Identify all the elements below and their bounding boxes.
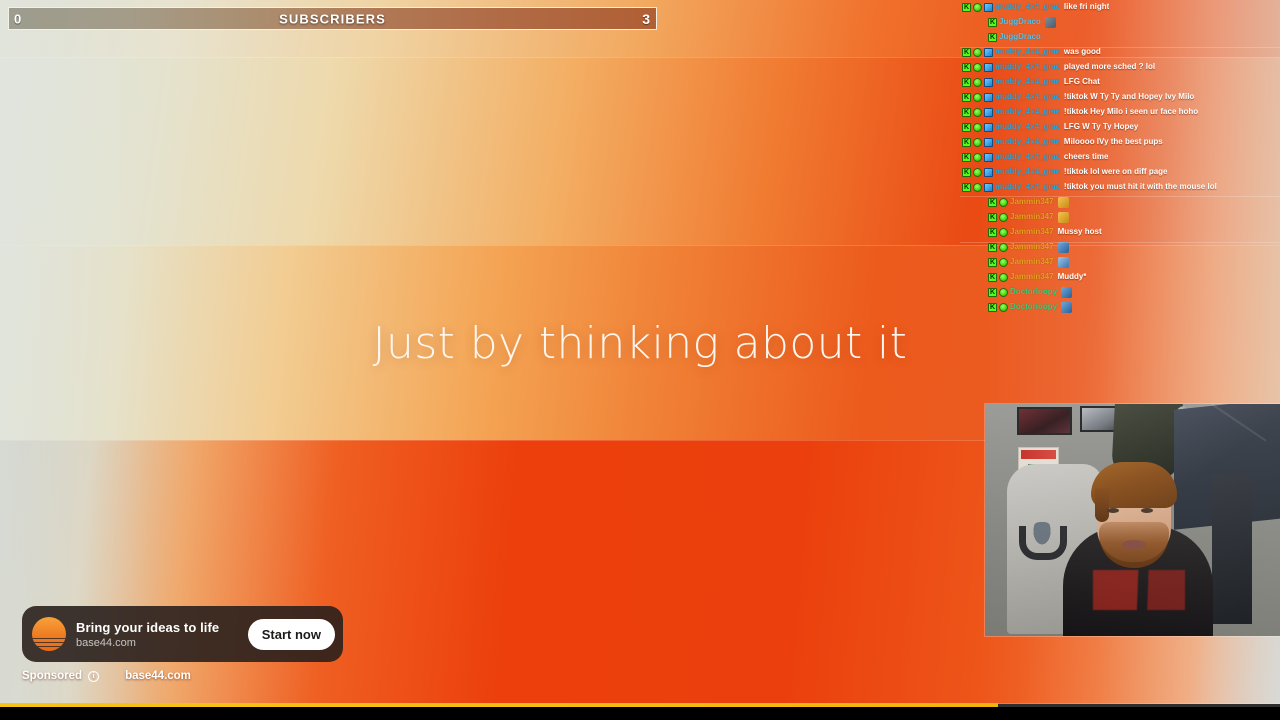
kick-badge-icon bbox=[988, 303, 997, 312]
chat-message-text: Muddy* bbox=[1058, 273, 1087, 281]
info-icon[interactable]: i bbox=[88, 671, 99, 682]
video-caption: Just by thinking about it bbox=[0, 318, 1280, 369]
chat-username[interactable]: Doctorloopy bbox=[1010, 303, 1057, 311]
chat-divider bbox=[960, 196, 1280, 197]
verified-badge-icon bbox=[973, 3, 982, 12]
kick-badge-icon bbox=[988, 18, 997, 27]
chat-message-text: like fri night bbox=[1064, 3, 1109, 11]
kick-badge-icon bbox=[962, 138, 971, 147]
chat-message[interactable]: muddy_4x4_gmcLFG Chat bbox=[960, 75, 1280, 90]
kick-badge-icon bbox=[962, 78, 971, 87]
chat-username[interactable]: muddy_4x4_gmc bbox=[995, 93, 1060, 101]
streamer-eye-right bbox=[1141, 508, 1153, 513]
kick-badge-icon bbox=[962, 168, 971, 177]
chat-message-text: LFG W Ty Ty Hopey bbox=[1064, 123, 1138, 131]
kick-badge-icon bbox=[962, 153, 971, 162]
chat-message-text: played more sched ? lol bbox=[1064, 63, 1155, 71]
subscriber-badge-icon bbox=[984, 138, 993, 147]
chat-username[interactable]: muddy_4x4_gmc bbox=[995, 138, 1060, 146]
streamer-hair bbox=[1091, 462, 1177, 508]
chat-message-text: !tiktok W Ty Ty and Hopey Ivy Milo bbox=[1064, 93, 1194, 101]
streamer-mouth bbox=[1122, 540, 1146, 549]
subscriber-goal-bar: 0 SUBSCRIBERS 3 bbox=[8, 7, 657, 30]
verified-badge-icon bbox=[973, 78, 982, 87]
subscriber-badge-icon bbox=[984, 168, 993, 177]
subscriber-badge-icon bbox=[984, 78, 993, 87]
subscriber-badge-icon bbox=[984, 123, 993, 132]
subscriber-badge-icon bbox=[984, 48, 993, 57]
chat-message-text: !tiktok lol were on diff page bbox=[1064, 168, 1168, 176]
chat-message[interactable]: JuggDraco bbox=[960, 15, 1280, 30]
subscriber-goal-target: 3 bbox=[642, 11, 650, 27]
verified-badge-icon bbox=[973, 123, 982, 132]
chat-message[interactable]: Jammin347 bbox=[960, 195, 1280, 210]
chat-message[interactable]: muddy_4x4_gmclike fri night bbox=[960, 0, 1280, 15]
chat-message[interactable]: JuggDraco bbox=[960, 30, 1280, 45]
chat-username[interactable]: muddy_4x4_gmc bbox=[995, 78, 1060, 86]
sponsored-label: Sponsored bbox=[22, 670, 82, 682]
chat-message-text: Mussy host bbox=[1058, 228, 1102, 236]
verified-badge-icon bbox=[973, 168, 982, 177]
chat-divider bbox=[960, 47, 1280, 48]
chat-username[interactable]: Jammin347 bbox=[1010, 243, 1054, 251]
chat-emote-icon bbox=[1058, 197, 1069, 208]
chat-message[interactable]: muddy_4x4_gmc!tiktok you must hit it wit… bbox=[960, 180, 1280, 195]
kick-badge-icon bbox=[962, 123, 971, 132]
player-letterbox bbox=[0, 707, 1280, 720]
chat-message[interactable]: Jammin347 bbox=[960, 210, 1280, 225]
subscriber-badge-icon bbox=[984, 3, 993, 12]
sponsored-ad-card[interactable]: Bring your ideas to life base44.com Star… bbox=[22, 606, 343, 662]
verified-badge-icon bbox=[999, 228, 1008, 237]
chat-username[interactable]: Doctorloopy bbox=[1010, 288, 1057, 296]
chat-username[interactable]: JuggDraco bbox=[999, 18, 1041, 26]
kick-badge-icon bbox=[988, 213, 997, 222]
chat-divider bbox=[960, 242, 1280, 243]
kick-badge-icon bbox=[962, 48, 971, 57]
ad-domain-sub: base44.com bbox=[76, 637, 238, 649]
chat-message[interactable]: Jammin347Mussy host bbox=[960, 225, 1280, 240]
chat-message-text: !tiktok Hey Milo i seen ur face hoho bbox=[1064, 108, 1198, 116]
verified-badge-icon bbox=[999, 198, 1008, 207]
chat-username[interactable]: muddy_4x4_gmc bbox=[995, 63, 1060, 71]
chat-message[interactable]: muddy_4x4_gmc!tiktok lol were on diff pa… bbox=[960, 165, 1280, 180]
chat-username[interactable]: Jammin347 bbox=[1010, 198, 1054, 206]
chat-username[interactable]: Jammin347 bbox=[1010, 213, 1054, 221]
chat-emote-icon bbox=[1058, 242, 1069, 253]
chat-message-text: cheers time bbox=[1064, 153, 1108, 161]
chat-message-text: was good bbox=[1064, 48, 1101, 56]
chat-username[interactable]: Jammin347 bbox=[1010, 228, 1054, 236]
ad-footer-domain[interactable]: base44.com bbox=[125, 670, 191, 682]
subscriber-badge-icon bbox=[984, 183, 993, 192]
verified-badge-icon bbox=[999, 288, 1008, 297]
chat-username[interactable]: muddy_4x4_gmc bbox=[995, 153, 1060, 161]
base44-sunset-logo-icon bbox=[32, 617, 66, 651]
chat-message[interactable]: Doctorloopy bbox=[960, 285, 1280, 300]
kick-badge-icon bbox=[988, 33, 997, 42]
verified-badge-icon bbox=[973, 183, 982, 192]
chat-username[interactable]: muddy_4x4_gmc bbox=[995, 48, 1060, 56]
verified-badge-icon bbox=[973, 153, 982, 162]
kick-badge-icon bbox=[962, 183, 971, 192]
chat-emote-icon bbox=[1045, 17, 1056, 28]
verified-badge-icon bbox=[999, 258, 1008, 267]
verified-badge-icon bbox=[973, 138, 982, 147]
subscriber-badge-icon bbox=[984, 93, 993, 102]
chair-armrest bbox=[1019, 526, 1067, 560]
verified-badge-icon bbox=[973, 108, 982, 117]
chat-username[interactable]: muddy_4x4_gmc bbox=[995, 3, 1060, 11]
verified-badge-icon bbox=[999, 213, 1008, 222]
chat-username[interactable]: Jammin347 bbox=[1010, 273, 1054, 281]
kick-badge-icon bbox=[962, 3, 971, 12]
chat-emote-icon bbox=[1061, 287, 1072, 298]
subscriber-badge-icon bbox=[984, 63, 993, 72]
chat-message[interactable]: Doctorloopy bbox=[960, 300, 1280, 315]
chat-emote-icon bbox=[1058, 257, 1069, 268]
chat-message-text: LFG Chat bbox=[1064, 78, 1100, 86]
ad-headline: Bring your ideas to life bbox=[76, 620, 238, 635]
verified-badge-icon bbox=[973, 93, 982, 102]
kick-badge-icon bbox=[988, 198, 997, 207]
ad-footer-row: Sponsored i base44.com bbox=[22, 670, 191, 682]
chat-username[interactable]: Jammin347 bbox=[1010, 258, 1054, 266]
subscriber-badge-icon bbox=[984, 153, 993, 162]
chat-message-text: !tiktok you must hit it with the mouse l… bbox=[1064, 183, 1217, 191]
verified-badge-icon bbox=[999, 303, 1008, 312]
streamer-eye-left bbox=[1107, 508, 1119, 513]
subscriber-goal-label: SUBSCRIBERS bbox=[9, 11, 656, 26]
chat-message[interactable]: muddy_4x4_gmcLFG W Ty Ty Hopey bbox=[960, 120, 1280, 135]
kick-badge-icon bbox=[988, 258, 997, 267]
chat-message[interactable]: Jammin347Muddy* bbox=[960, 270, 1280, 285]
chat-username[interactable]: JuggDraco bbox=[999, 33, 1041, 41]
chat-emote-icon bbox=[1061, 302, 1072, 313]
kick-badge-icon bbox=[988, 243, 997, 252]
kick-badge-icon bbox=[962, 108, 971, 117]
kick-badge-icon bbox=[988, 288, 997, 297]
chat-username[interactable]: muddy_4x4_gmc bbox=[995, 183, 1060, 191]
chat-message[interactable]: muddy_4x4_gmccheers time bbox=[960, 150, 1280, 165]
chat-message[interactable]: muddy_4x4_gmcplayed more sched ? lol bbox=[960, 60, 1280, 75]
chat-message[interactable]: Jammin347 bbox=[960, 255, 1280, 270]
chat-message[interactable]: muddy_4x4_gmc!tiktok W Ty Ty and Hopey I… bbox=[960, 90, 1280, 105]
ad-text-block: Bring your ideas to life base44.com bbox=[76, 620, 238, 649]
chat-emote-icon bbox=[1058, 212, 1069, 223]
kick-badge-icon bbox=[988, 273, 997, 282]
pc-tower bbox=[1212, 474, 1252, 624]
shirt-graphic bbox=[1093, 570, 1185, 610]
webcam-overlay[interactable] bbox=[985, 404, 1280, 636]
wall-poster-left bbox=[1017, 407, 1072, 435]
verified-badge-icon bbox=[973, 63, 982, 72]
stream-viewport: 0 SUBSCRIBERS 3 Just by thinking about i… bbox=[0, 0, 1280, 720]
chat-message[interactable]: muddy_4x4_gmc!tiktok Hey Milo i seen ur … bbox=[960, 105, 1280, 120]
verified-badge-icon bbox=[999, 243, 1008, 252]
kick-badge-icon bbox=[962, 63, 971, 72]
chat-overlay[interactable]: muddy_4x4_gmclike fri nightJuggDracoJugg… bbox=[960, 0, 1280, 320]
verified-badge-icon bbox=[999, 273, 1008, 282]
verified-badge-icon bbox=[973, 48, 982, 57]
chat-message-text: Miloooo IVy the best pups bbox=[1064, 138, 1163, 146]
chat-username[interactable]: muddy_4x4_gmc bbox=[995, 168, 1060, 176]
chat-username[interactable]: muddy_4x4_gmc bbox=[995, 123, 1060, 131]
chat-message[interactable]: muddy_4x4_gmcMiloooo IVy the best pups bbox=[960, 135, 1280, 150]
chat-username[interactable]: muddy_4x4_gmc bbox=[995, 108, 1060, 116]
kick-badge-icon bbox=[962, 93, 971, 102]
kick-badge-icon bbox=[988, 228, 997, 237]
ad-start-now-button[interactable]: Start now bbox=[248, 619, 335, 650]
subscriber-badge-icon bbox=[984, 108, 993, 117]
